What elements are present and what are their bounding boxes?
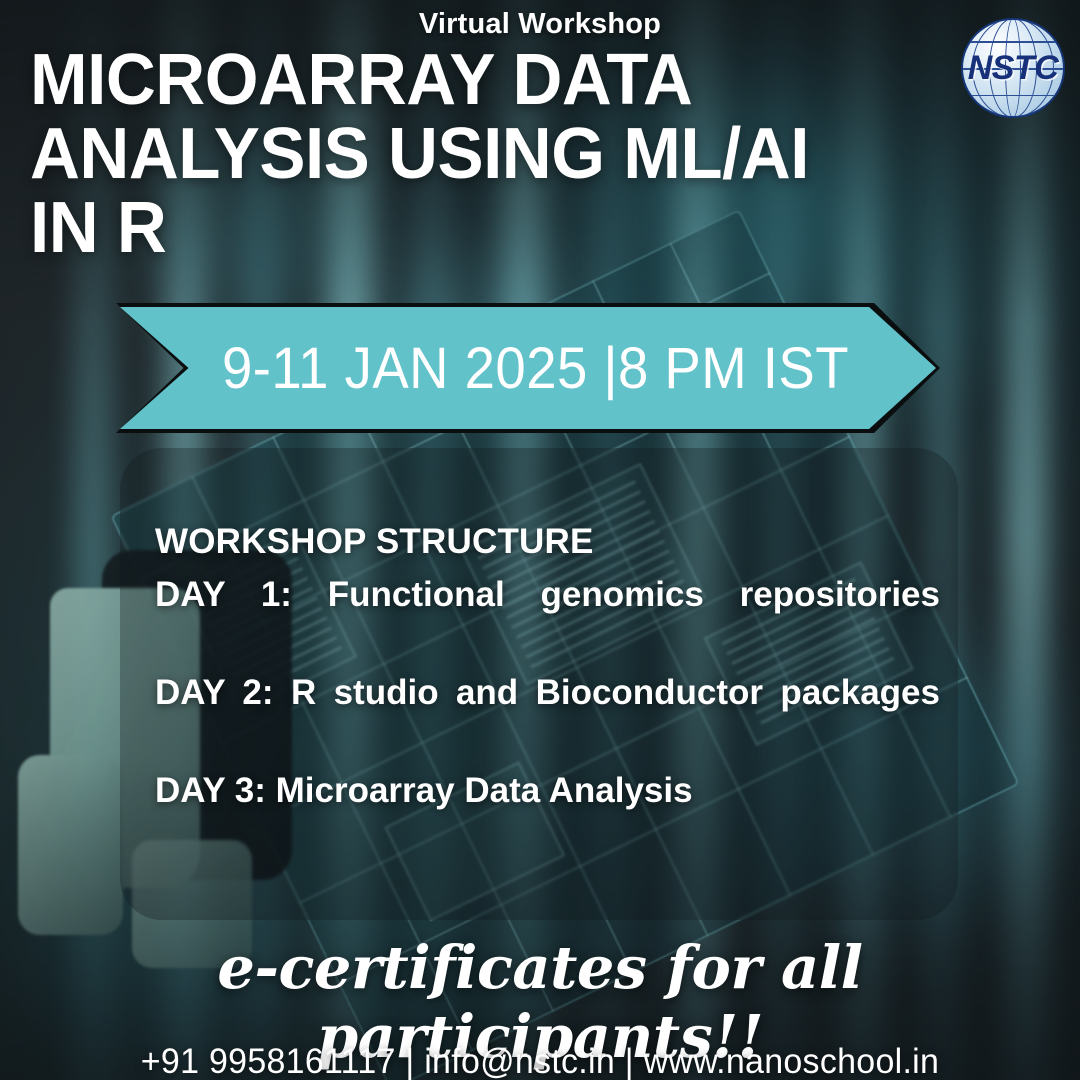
workshop-day-2: DAY 2: R studio and Bioconductor package… bbox=[155, 668, 940, 766]
workshop-day-3: DAY 3: Microarray Data Analysis bbox=[155, 766, 940, 815]
date-banner-text: 9-11 JAN 2025 |8 PM IST bbox=[141, 303, 916, 433]
poster-content: Virtual Workshop NSTC MICROARRAY DATA AN… bbox=[0, 0, 1080, 1080]
date-banner: 9-11 JAN 2025 |8 PM IST bbox=[116, 303, 940, 433]
contact-line: +91 9958161117 | info@nstc.in | www.nano… bbox=[16, 1042, 1064, 1080]
workshop-day-1: DAY 1: Functional genomics repositories bbox=[155, 570, 940, 668]
workshop-structure-card: WORKSHOP STRUCTURE DAY 1: Functional gen… bbox=[120, 448, 958, 920]
workshop-poster: Virtual Workshop NSTC MICROARRAY DATA AN… bbox=[0, 0, 1080, 1080]
page-title: MICROARRAY DATA ANALYSIS USING ML/AI IN … bbox=[30, 43, 894, 265]
nstc-logo: NSTC bbox=[961, 18, 1065, 118]
workshop-structure-heading: WORKSHOP STRUCTURE bbox=[155, 522, 940, 562]
nstc-logo-text: NSTC bbox=[961, 18, 1065, 118]
kicker-text: Virtual Workshop bbox=[0, 8, 1080, 41]
